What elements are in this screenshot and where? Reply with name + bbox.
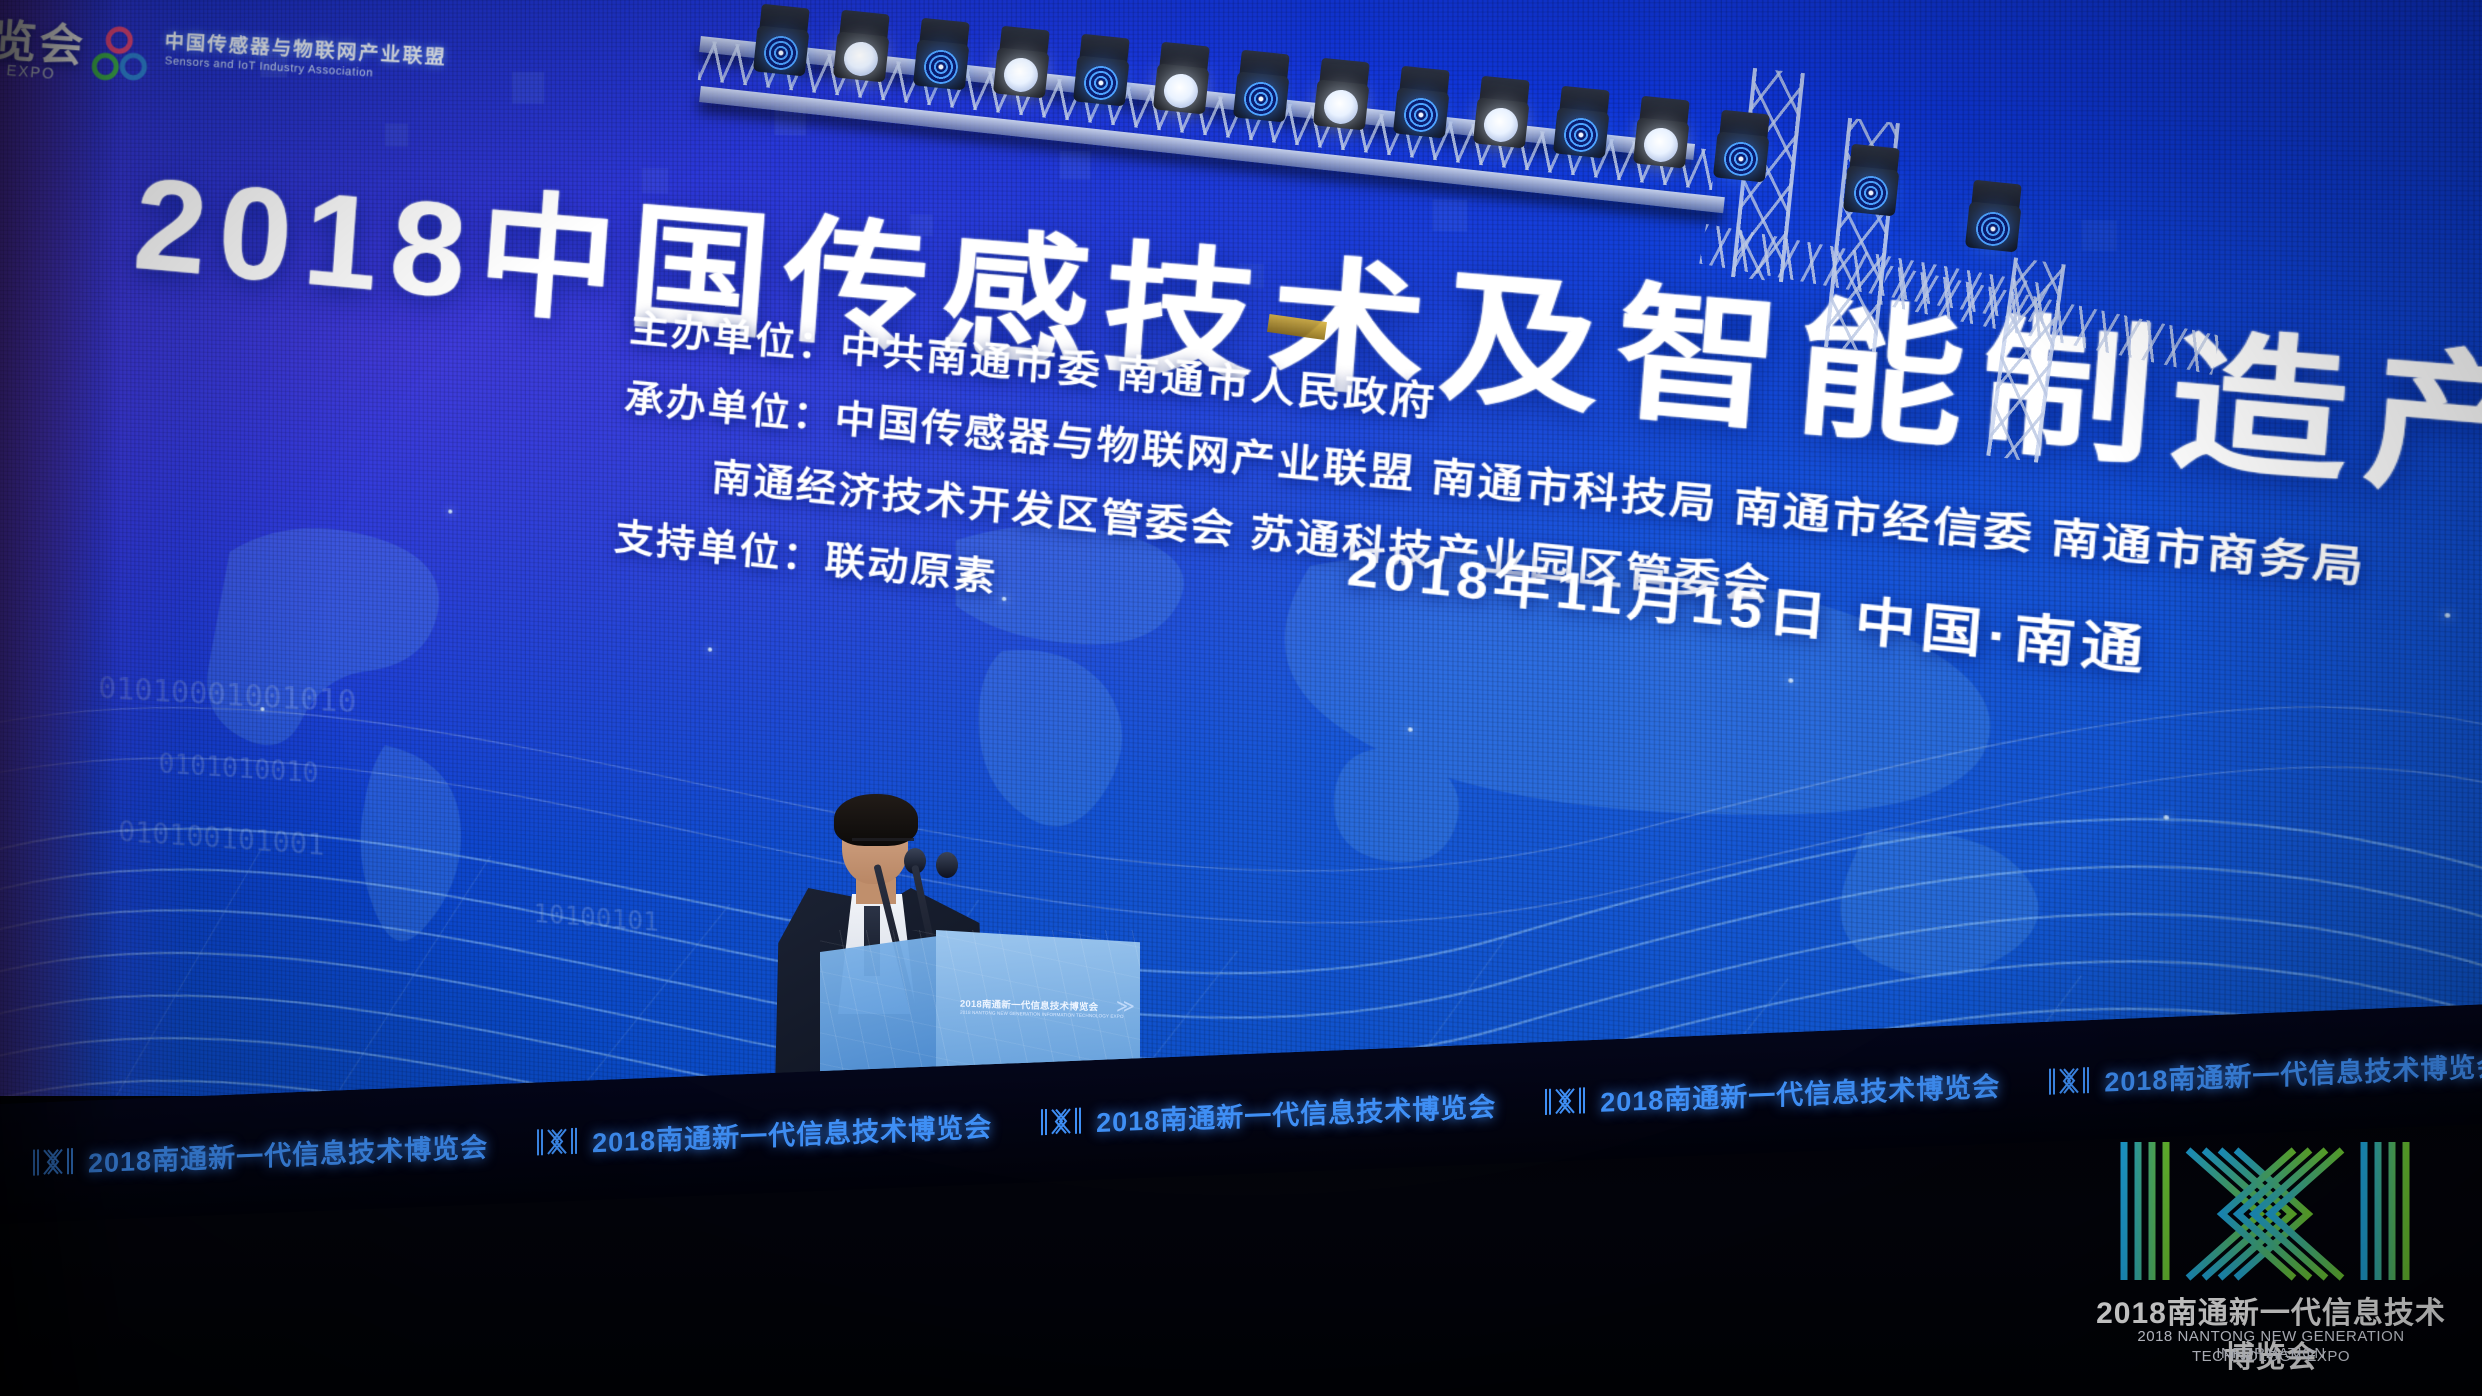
moving-head-fixture <box>1152 41 1211 120</box>
podium-chevrons: ≫ <box>1116 996 1130 1017</box>
moving-head-fixture <box>1472 75 1531 154</box>
moving-head-fixture <box>912 17 971 96</box>
moving-head-fixture <box>832 9 891 88</box>
sensor-iot-alliance-icon <box>86 24 152 91</box>
moving-head-fixture <box>1632 95 1691 174</box>
expo-x-mark-icon <box>534 1126 580 1158</box>
banner-strip-item-label: 2018南通新一代信息技术博览会 <box>2104 1044 2482 1099</box>
expo-x-mark-icon <box>1542 1085 1588 1117</box>
microphone-head <box>936 852 958 878</box>
expo-x-mark-icon <box>2046 1065 2092 1097</box>
expo-x-mark-icon <box>30 1146 76 1178</box>
association-logo: 中国传感器与物联网产业联盟 Sensors and IoT Industry A… <box>86 16 520 106</box>
banner-strip-item: 2018南通新一代信息技术博览会 <box>2046 1044 2482 1101</box>
moving-head-fixture <box>1392 65 1451 144</box>
moving-head-fixture <box>1964 179 2023 258</box>
moving-head-fixture <box>1312 57 1371 136</box>
banner-strip-item: 2018南通新一代信息技术博览会 <box>30 1125 488 1182</box>
expo-x-mark-icon <box>2110 1136 2420 1286</box>
banner-strip-item: 2018南通新一代信息技术博览会 <box>1038 1084 1496 1141</box>
moving-head-fixture <box>1712 109 1771 188</box>
expo-x-mark-icon <box>1038 1105 1084 1137</box>
moving-head-fixture <box>1232 49 1291 128</box>
banner-strip-item-label: 2018南通新一代信息技术博览会 <box>592 1105 992 1160</box>
banner-strip-item: 2018南通新一代信息技术博览会 <box>534 1105 992 1162</box>
banner-strip-item: 2018南通新一代信息技术博览会 <box>1542 1064 2000 1121</box>
moving-head-fixture <box>1072 33 1131 112</box>
banner-strip-item-label: 2018南通新一代信息技术博览会 <box>88 1125 488 1180</box>
glasses-icon <box>852 838 914 855</box>
expo-corner-logo: 2018南通新一代信息技术博览会 2018 NANTONG NEW GENERA… <box>2096 1136 2446 1382</box>
moving-head-fixture <box>1552 85 1611 164</box>
banner-strip-item-label: 2018南通新一代信息技术博览会 <box>1600 1064 2000 1119</box>
expo-corner-logo-en-line2: TECHNOLOGY EXPO <box>2096 1348 2446 1365</box>
moving-head-fixture <box>1842 143 1901 222</box>
moving-head-fixture <box>992 25 1051 104</box>
stage-photo: 01010001001010 0101010010 010100101001 1… <box>0 0 2482 1396</box>
podium-top-logo: 2018南通新一代信息技术博览会 2018 NANTONG NEW GENERA… <box>960 998 1140 1024</box>
moving-head-fixture <box>752 3 811 82</box>
banner-strip-item-label: 2018南通新一代信息技术博览会 <box>1096 1084 1496 1139</box>
bottom-banner-band: 2018南通新一代信息技术博览会2018南通新一代信息技术博览会2018南通新一… <box>0 1096 2482 1396</box>
